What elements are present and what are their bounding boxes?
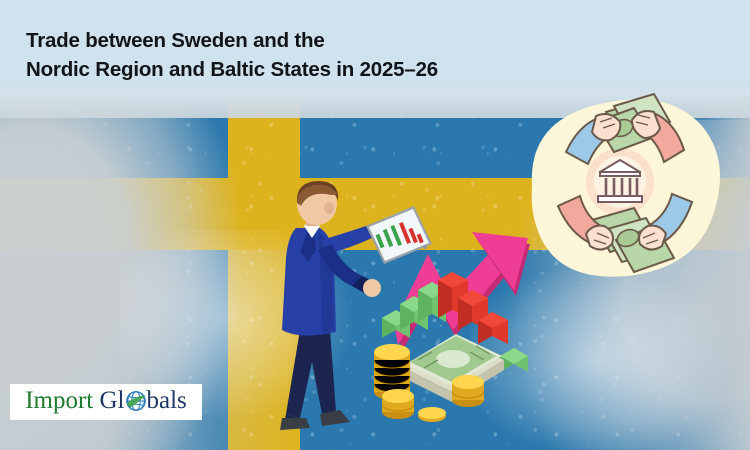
- logo-word-globals-start: Gl: [100, 387, 125, 414]
- banner-title-line-2: Nordic Region and Baltic States in 2025–…: [26, 55, 586, 84]
- banner-title: Trade between Sweden and the Nordic Regi…: [26, 26, 586, 84]
- banner-title-line-1: Trade between Sweden and the: [26, 26, 586, 55]
- logo-word-globals-end: bals: [147, 387, 187, 414]
- logo-wordmark: Import Gl bals: [25, 388, 187, 417]
- globe-icon: [125, 390, 147, 417]
- import-globals-logo[interactable]: Import Gl bals: [10, 384, 202, 420]
- logo-word-import: Import: [25, 387, 93, 414]
- banner-image: Trade between Sweden and the Nordic Regi…: [0, 0, 750, 450]
